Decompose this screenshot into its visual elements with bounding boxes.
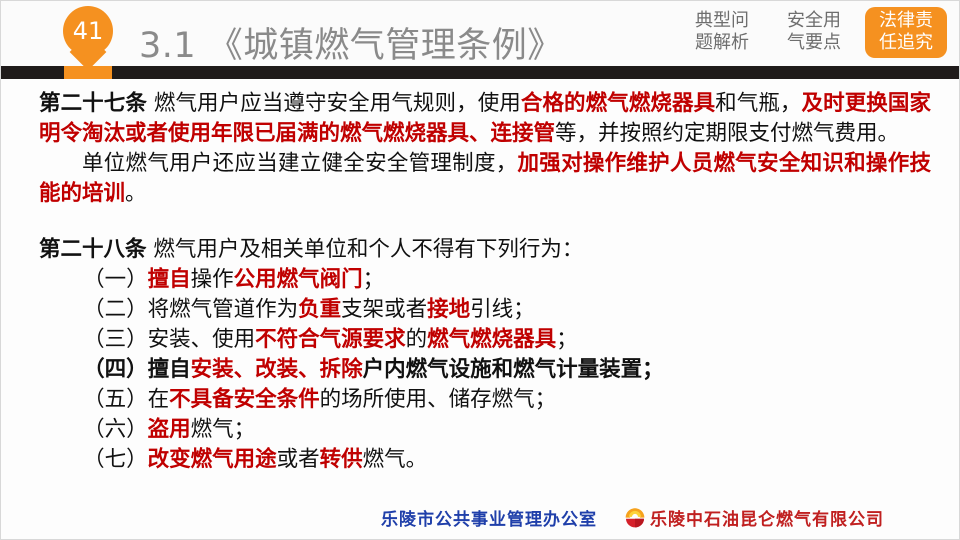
article-27-p2-seg1: 单位燃气用户还应当建立健全安全管理制度， — [82, 151, 518, 176]
item-segment-2: 操作 — [191, 267, 234, 292]
article-27-heading: 第二十七条 — [39, 91, 147, 116]
footer-content: 乐陵市公共事业管理办公室 乐陵中石油昆仑燃气有限公司 — [381, 505, 884, 530]
footer-office-name: 乐陵市公共事业管理办公室 — [381, 505, 597, 530]
item-marker: （二） — [83, 297, 148, 322]
footer-company-name: 乐陵中石油昆仑燃气有限公司 — [650, 505, 884, 530]
item-segment-1: 将燃气管道作为 — [148, 297, 299, 322]
item-segment-3: 支架或者 — [341, 297, 427, 322]
tab-legal-liability-line2: 任追究 — [867, 32, 945, 54]
item-segment-2: 不具备安全条件 — [169, 387, 320, 412]
item-segment-3: 的 — [406, 327, 428, 352]
item-segment-3: 转供 — [320, 447, 363, 472]
item-segment-2: 负重 — [298, 297, 341, 322]
item-segment-1: 擅自 — [148, 267, 191, 292]
item-segment-5: 引线； — [470, 297, 535, 322]
item-marker: （三） — [83, 327, 148, 352]
tab-typical-cases-line2: 题解析 — [683, 32, 761, 54]
tab-safety-points[interactable]: 安全用 气要点 — [773, 7, 855, 58]
slide-body: 第二十七条 燃气用户应当遵守安全用气规则，使用合格的燃气燃烧器具和气瓶，及时更换… — [39, 89, 931, 475]
slide-footer: 乐陵市公共事业管理办公室 乐陵中石油昆仑燃气有限公司 — [1, 501, 960, 535]
item-segment-1: 在 — [148, 387, 170, 412]
paragraph-spacer — [39, 209, 931, 235]
prohibited-action-item-4: （四）擅自安装、改装、拆除户内燃气设施和燃气计量装置； — [39, 355, 931, 385]
slide-number-pin: 41 — [63, 6, 113, 68]
prohibited-action-item-7: （七）改变燃气用途或者转供燃气。 — [39, 445, 931, 475]
article-27-p2-seg3: 。 — [125, 181, 147, 206]
article-27-seg3: 和气瓶， — [715, 91, 801, 116]
prohibited-actions-list: （一）擅自操作公用燃气阀门；（二）将燃气管道作为负重支架或者接地引线；（三）安装… — [39, 265, 931, 475]
slide-header: 41 3.1 《城镇燃气管理条例》 典型问 题解析 安全用 气要点 法律责 任追… — [1, 1, 960, 79]
item-segment-5: ； — [556, 327, 578, 352]
item-segment-2: 燃气； — [191, 417, 256, 442]
item-segment-1: 盗用 — [148, 417, 191, 442]
item-segment-4: ； — [363, 267, 385, 292]
prohibited-action-item-6: （六）盗用燃气； — [39, 415, 931, 445]
footer-company-block: 乐陵中石油昆仑燃气有限公司 — [623, 505, 884, 530]
article-27-seg1: 燃气用户应当遵守安全用气规则，使用 — [147, 91, 521, 116]
petrochina-logo-icon — [623, 506, 647, 530]
item-segment-4: 燃气燃烧器具 — [427, 327, 556, 352]
item-marker: （六） — [83, 417, 148, 442]
prohibited-action-item-5: （五）在不具备安全条件的场所使用、储存燃气； — [39, 385, 931, 415]
item-segment-2: 不符合气源要求 — [255, 327, 406, 352]
page-title: 3.1 《城镇燃气管理条例》 — [139, 17, 563, 68]
article-27-seg5: 等，并按照约定期限支付燃气费用。 — [555, 121, 899, 146]
slide: 41 3.1 《城镇燃气管理条例》 典型问 题解析 安全用 气要点 法律责 任追… — [0, 0, 960, 540]
article-28-seg1: 燃气用户及相关单位和个人不得有下列行为： — [147, 237, 584, 262]
prohibited-action-item-2: （二）将燃气管道作为负重支架或者接地引线； — [39, 295, 931, 325]
tab-typical-cases[interactable]: 典型问 题解析 — [681, 7, 763, 58]
article-28-heading: 第二十八条 — [39, 237, 147, 262]
prohibited-action-item-3: （三）安装、使用不符合气源要求的燃气燃烧器具； — [39, 325, 931, 355]
article-28-paragraph: 第二十八条 燃气用户及相关单位和个人不得有下列行为： — [39, 235, 931, 265]
section-tabs: 典型问 题解析 安全用 气要点 法律责 任追究 — [681, 7, 947, 58]
article-27-seg2: 合格的燃气燃烧器具 — [521, 91, 715, 116]
tab-legal-liability[interactable]: 法律责 任追究 — [865, 7, 947, 58]
item-marker: （一） — [83, 267, 148, 292]
item-marker: （七） — [83, 447, 148, 472]
item-segment-3: 公用燃气阀门 — [234, 267, 363, 292]
slide-number-label: 41 — [63, 6, 113, 56]
tab-legal-liability-line1: 法律责 — [867, 10, 945, 32]
item-segment-2: 安装、改装、拆除 — [191, 357, 363, 382]
tab-safety-points-line1: 安全用 — [775, 10, 853, 32]
item-segment-3: 的场所使用、储存燃气； — [320, 387, 557, 412]
item-segment-4: 接地 — [427, 297, 470, 322]
item-segment-1: 安装、使用 — [148, 327, 256, 352]
tab-safety-points-line2: 气要点 — [775, 32, 853, 54]
item-segment-2: 或者 — [277, 447, 320, 472]
item-marker: （五） — [83, 387, 148, 412]
prohibited-action-item-1: （一）擅自操作公用燃气阀门； — [39, 265, 931, 295]
article-27-paragraph: 第二十七条 燃气用户应当遵守安全用气规则，使用合格的燃气燃烧器具和气瓶，及时更换… — [39, 89, 931, 149]
item-segment-3: 户内燃气设施和燃气计量装置； — [363, 357, 664, 382]
tab-typical-cases-line1: 典型问 — [683, 10, 761, 32]
item-segment-1: 改变燃气用途 — [148, 447, 277, 472]
item-marker: （四） — [83, 357, 148, 382]
item-segment-1: 擅自 — [148, 357, 191, 382]
article-27-paragraph-2: 单位燃气用户还应当建立健全安全管理制度，加强对操作维护人员燃气安全知识和操作技能… — [39, 149, 931, 209]
item-segment-4: 燃气。 — [363, 447, 428, 472]
